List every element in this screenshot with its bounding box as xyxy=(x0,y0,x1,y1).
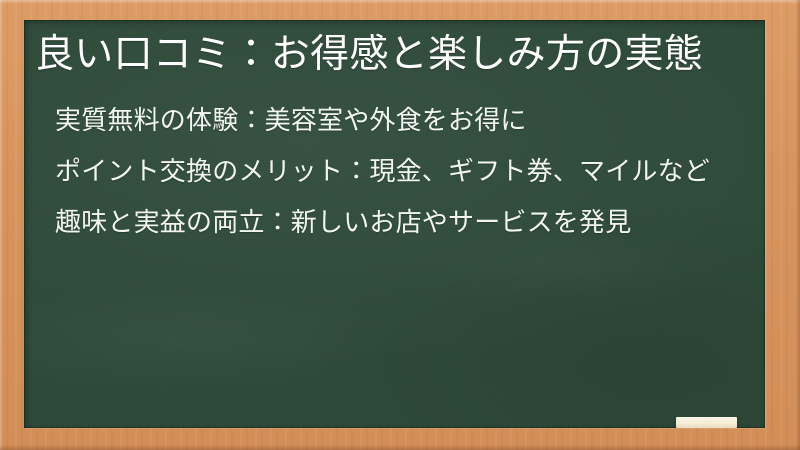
slide-content: 良い口コミ：お得感と楽しみ方の実態 実質無料の体験：美容室や外食をお得に ポイン… xyxy=(24,20,765,428)
frame-bottom-shadow xyxy=(0,445,800,450)
frame-left-highlight xyxy=(0,0,3,450)
bullet-item: 実質無料の体験：美容室や外食をお得に xyxy=(55,102,761,139)
frame-right-shadow xyxy=(795,0,800,450)
chalkboard-surface: 良い口コミ：お得感と楽しみ方の実態 実質無料の体験：美容室や外食をお得に ポイン… xyxy=(24,20,765,428)
chalkboard-slide: 良い口コミ：お得感と楽しみ方の実態 実質無料の体験：美容室や外食をお得に ポイン… xyxy=(0,0,800,450)
slide-title: 良い口コミ：お得感と楽しみ方の実態 xyxy=(35,31,753,79)
bullet-item: ポイント交換のメリット：現金、ギフト券、マイルなど xyxy=(55,153,761,190)
frame-top-highlight xyxy=(0,0,800,4)
bullet-list: 実質無料の体験：美容室や外食をお得に ポイント交換のメリット：現金、ギフト券、マ… xyxy=(55,102,761,241)
chalk-stick xyxy=(676,417,737,428)
bullet-item: 趣味と実益の両立：新しいお店やサービスを発見 xyxy=(55,204,761,241)
